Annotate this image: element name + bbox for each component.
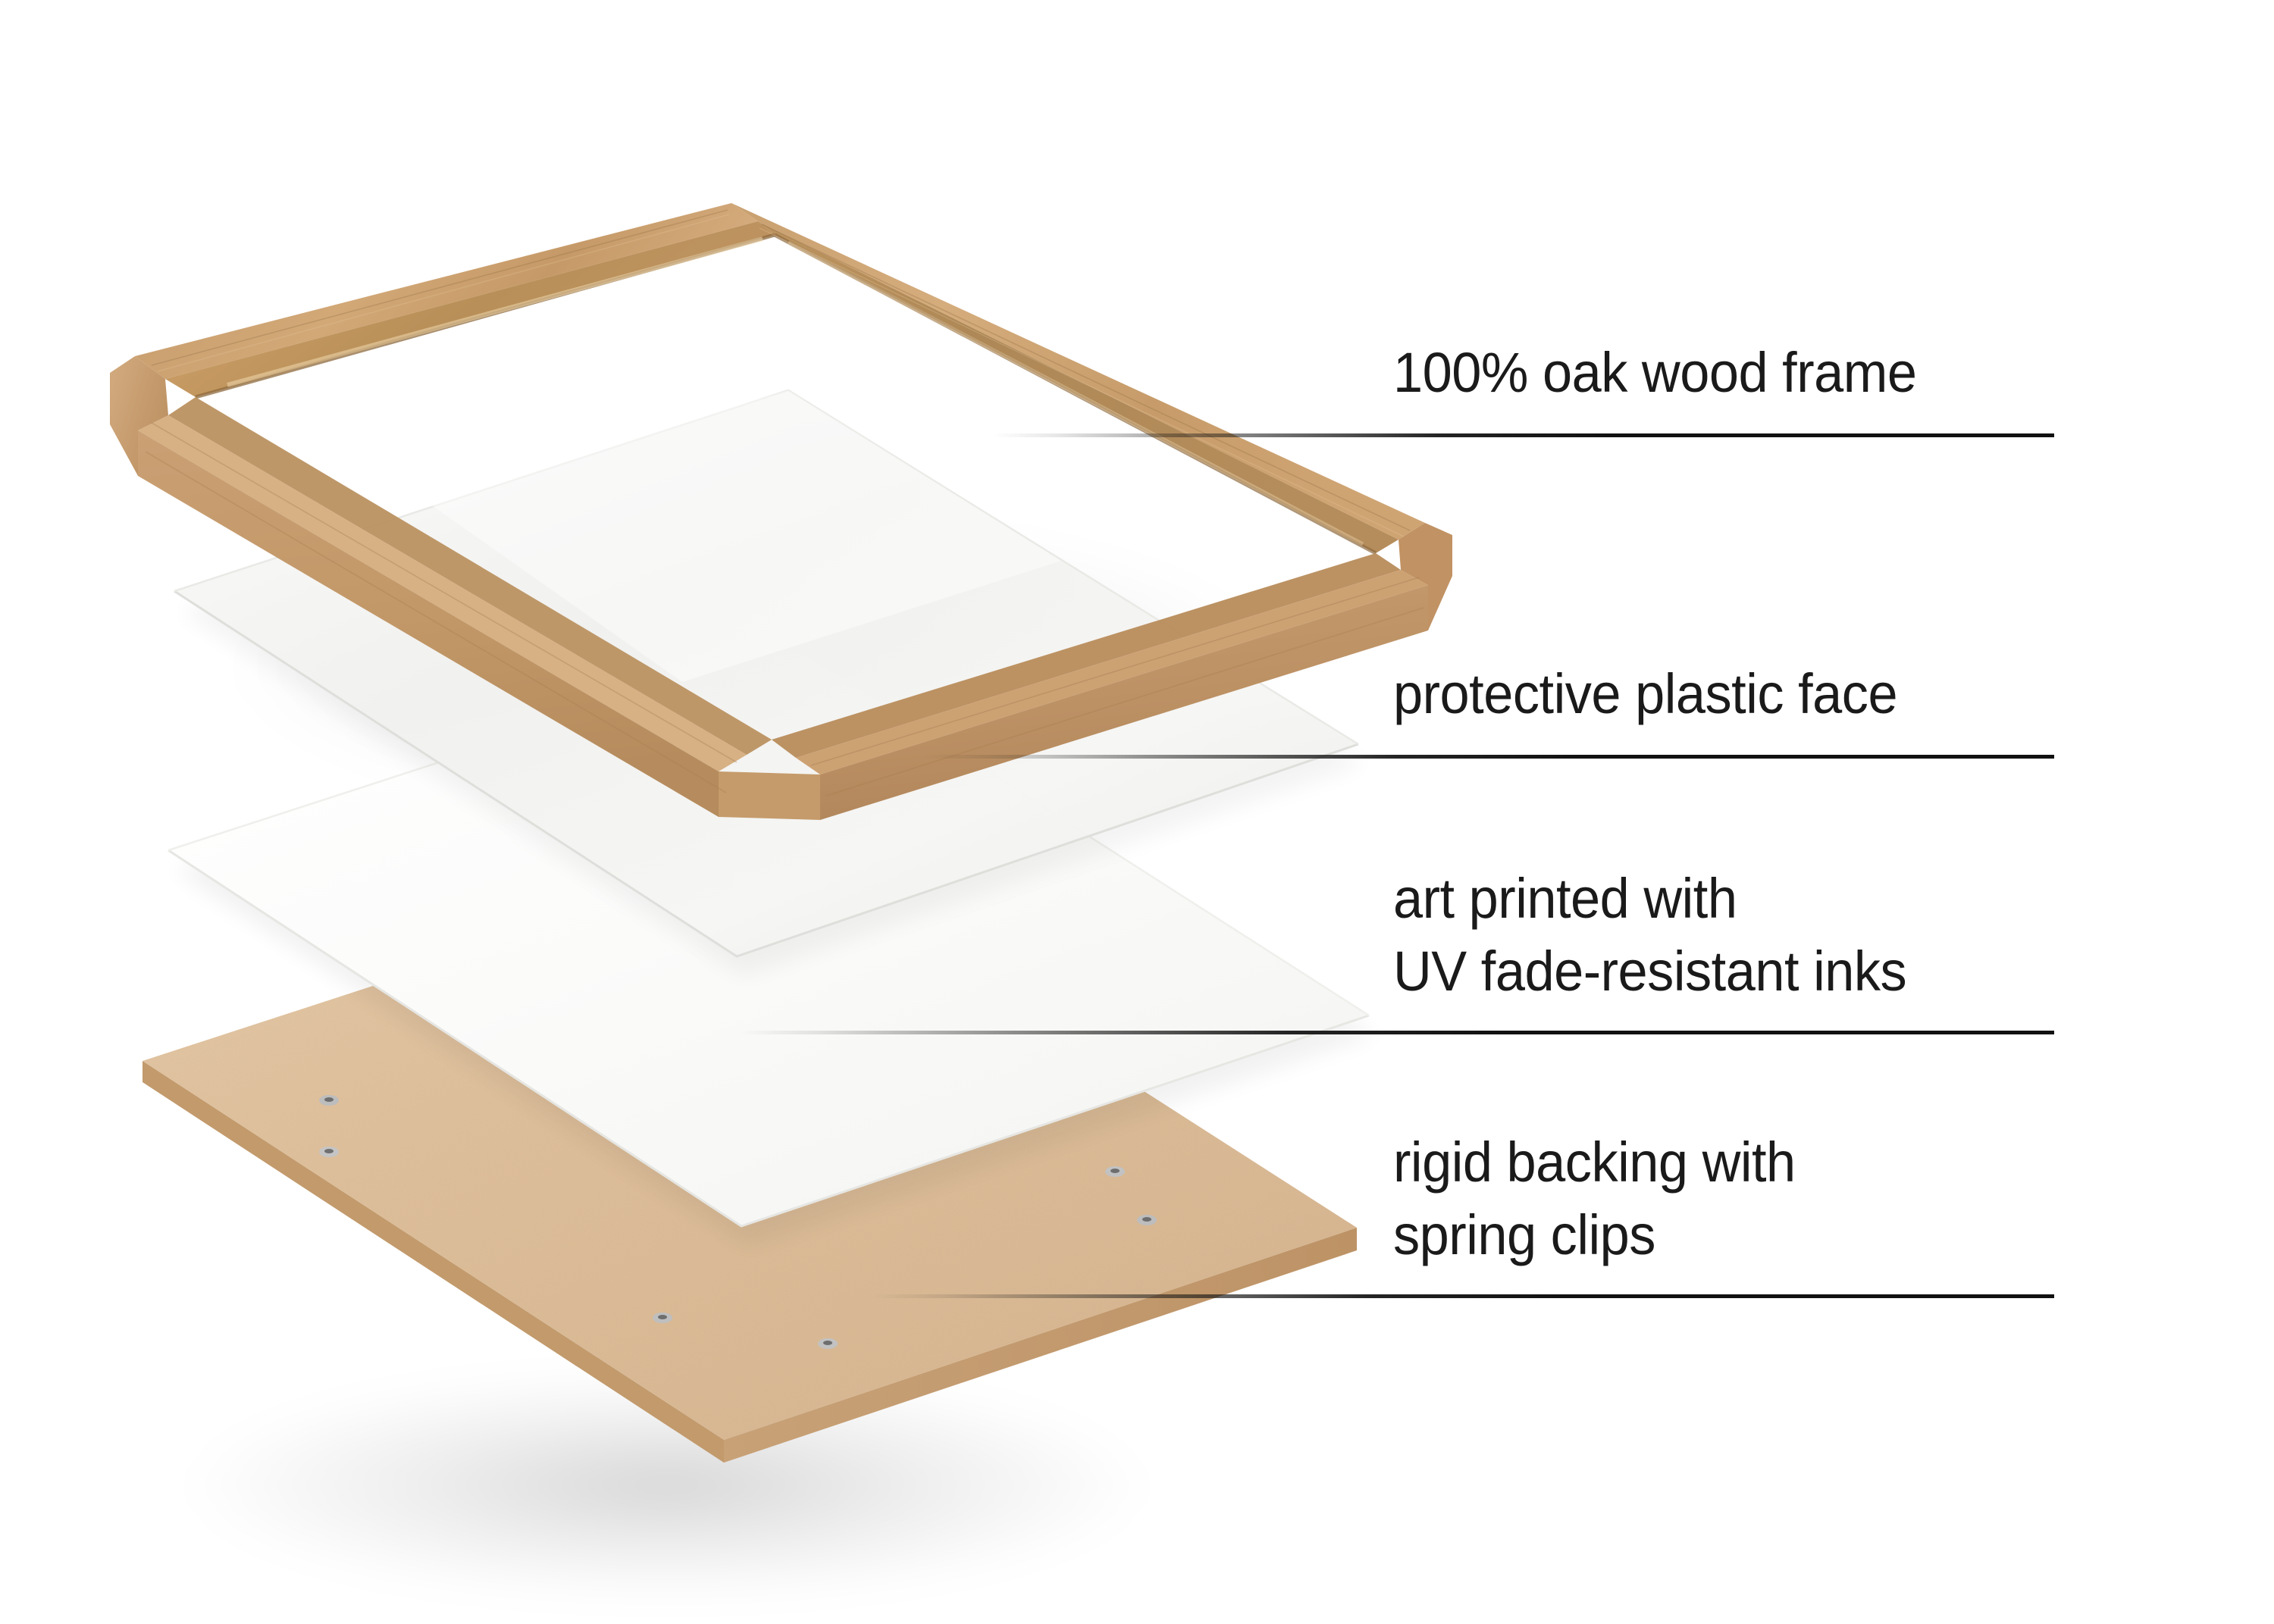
- leader-line-frame: [993, 433, 2054, 437]
- spring-clip: [1137, 1215, 1157, 1225]
- leader-line-plastic: [921, 755, 2054, 759]
- frame-rabbet-top-left: [165, 221, 775, 397]
- exploded-view-illustration: [0, 0, 2274, 1624]
- callout-backing-label: rigid backing with spring clips: [1393, 1126, 1796, 1272]
- spring-clip: [319, 1147, 339, 1157]
- frame-corner-bottom-cap: [719, 771, 820, 820]
- spring-clip: [653, 1313, 672, 1323]
- diagram-canvas: 100% oak wood frame protective plastic f…: [0, 0, 2274, 1624]
- spring-clip: [1105, 1166, 1125, 1177]
- leader-line-backing: [872, 1294, 2054, 1298]
- frame-rabbet-sheen: [227, 239, 763, 385]
- spring-clip: [319, 1095, 339, 1106]
- frame-rail-top-left-face: [135, 203, 758, 379]
- callout-plastic-label: protective plastic face: [1393, 658, 1897, 731]
- callout-print-label: art printed with UV fade-resistant inks: [1393, 862, 1906, 1008]
- callout-frame-label: 100% oak wood frame: [1393, 336, 1916, 409]
- leader-line-print: [739, 1031, 2054, 1034]
- spring-clip: [818, 1338, 838, 1349]
